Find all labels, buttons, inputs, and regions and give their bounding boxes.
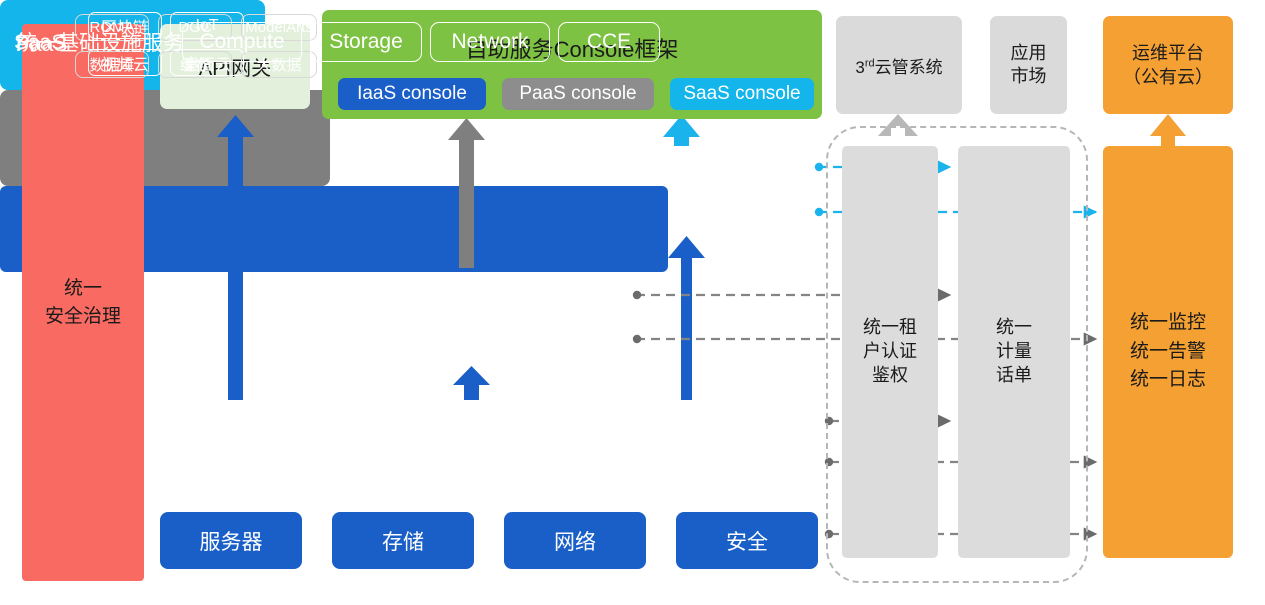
infra-item-label: Compute <box>199 30 284 54</box>
security-governance-column[interactable]: 统一 安全治理 <box>22 24 144 581</box>
app-market-line-2: 市场 <box>1011 65 1047 88</box>
third-cloud-sup: rd <box>865 57 875 69</box>
meter-line-3: 话单 <box>996 364 1032 388</box>
third-party-cloud-mgmt-box[interactable]: 3rd云管系统 <box>836 16 962 114</box>
meter-line-2: 计量 <box>996 340 1032 364</box>
resource-label: 服务器 <box>200 526 263 556</box>
paas-console-button[interactable]: PaaS console <box>502 78 654 110</box>
auth-line-3: 鉴权 <box>863 364 917 388</box>
arrow-ops-col-to-ops-platform <box>1150 114 1186 146</box>
resource-box-network[interactable]: 网络 <box>504 512 646 569</box>
architecture-diagram: 统一 安全治理 API网关 自助服务Console框架 IaaS console… <box>0 0 1265 605</box>
resource-label: 安全 <box>726 526 768 556</box>
ops-col-line-1: 统一监控 <box>1130 309 1206 338</box>
arrow-infra-to-paas <box>453 366 490 400</box>
third-cloud-suffix: 云管系统 <box>875 58 943 77</box>
ops-platform-line-2: （公有云） <box>1123 65 1213 89</box>
dot-saas-2 <box>815 208 823 216</box>
infra-item-label: Network <box>451 30 528 54</box>
ops-platform-box[interactable]: 运维平台 （公有云） <box>1103 16 1233 114</box>
app-market-box[interactable]: 应用 市场 <box>990 16 1067 114</box>
infra-item-compute[interactable]: Compute <box>182 22 302 62</box>
ops-platform-line-1: 运维平台 <box>1123 41 1213 65</box>
infra-item-label: CCE <box>587 30 631 54</box>
paas-console-label: PaaS console <box>519 83 636 105</box>
ops-col-line-3: 统一日志 <box>1130 366 1206 395</box>
security-line-2: 安全治理 <box>45 303 121 331</box>
auth-line-2: 户认证 <box>863 340 917 364</box>
arrow-infra-to-saas <box>668 236 705 400</box>
resource-box-security[interactable]: 安全 <box>676 512 818 569</box>
resource-box-storage[interactable]: 存储 <box>332 512 474 569</box>
meter-line-1: 统一 <box>996 316 1032 340</box>
iaas-console-button[interactable]: IaaS console <box>338 78 486 110</box>
resource-label: 网络 <box>554 526 596 556</box>
dot-paas-1 <box>633 291 641 299</box>
infra-item-label: Storage <box>329 30 403 54</box>
ops-col-line-2: 统一告警 <box>1130 338 1206 367</box>
infrastructure-label: 统一基础设施服务 <box>16 27 184 57</box>
arrow-saas-to-console <box>663 115 700 146</box>
infra-item-storage[interactable]: Storage <box>310 22 422 62</box>
resource-box-server[interactable]: 服务器 <box>160 512 302 569</box>
third-cloud-label: 3rd云管系统 <box>855 53 942 78</box>
resource-label: 存储 <box>382 526 424 556</box>
saas-console-label: SaaS console <box>683 83 800 105</box>
unified-tenant-auth-column[interactable]: 统一租 户认证 鉴权 <box>842 146 938 558</box>
app-market-line-1: 应用 <box>1011 42 1047 65</box>
unified-metering-billing-column[interactable]: 统一 计量 话单 <box>958 146 1070 558</box>
auth-line-1: 统一租 <box>863 316 917 340</box>
dot-paas-2 <box>633 335 641 343</box>
third-cloud-prefix: 3 <box>855 58 864 77</box>
paas-item-label: 数据库 <box>89 54 134 75</box>
iaas-console-label: IaaS console <box>357 83 467 105</box>
saas-console-button[interactable]: SaaS console <box>670 78 814 110</box>
infra-item-network[interactable]: Network <box>430 22 550 62</box>
dot-saas-1 <box>815 163 823 171</box>
infra-item-cce[interactable]: CCE <box>558 22 660 62</box>
security-line-1: 统一 <box>45 275 121 303</box>
ops-services-column[interactable]: 统一监控 统一告警 统一日志 <box>1103 146 1233 558</box>
